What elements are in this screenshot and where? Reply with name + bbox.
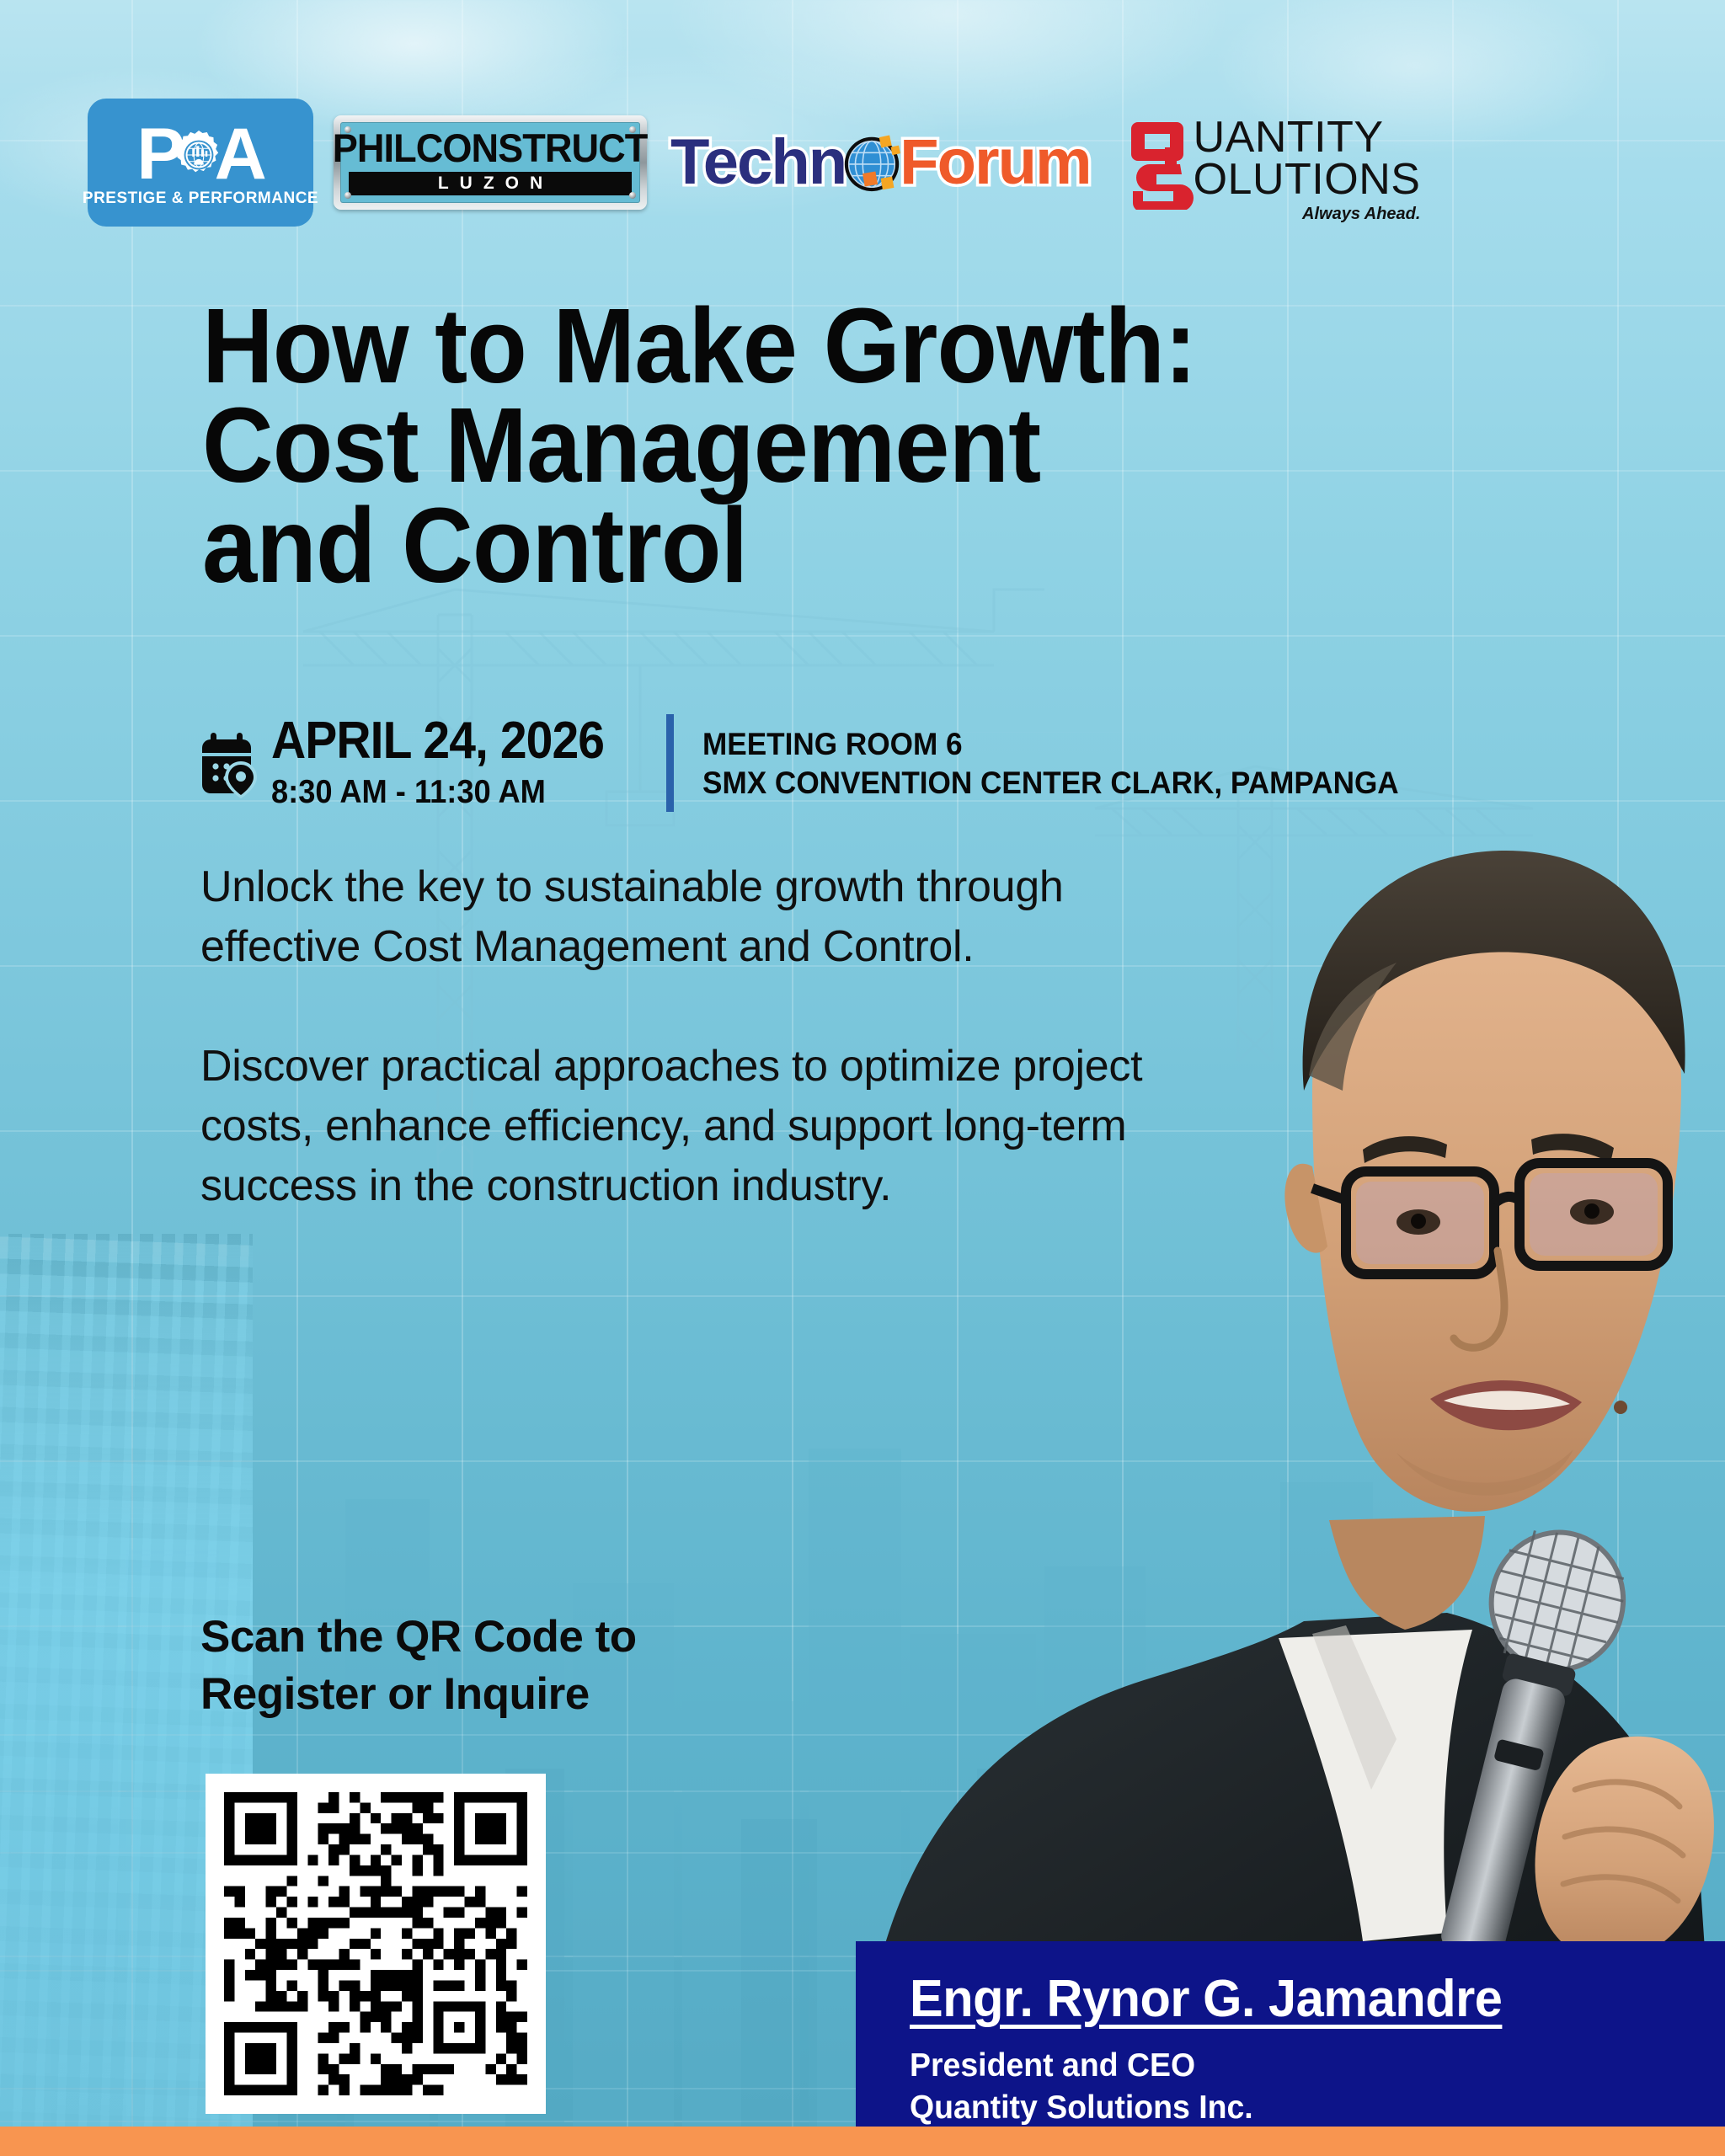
footer-accent-bar: [0, 2127, 1725, 2156]
quantity-solutions-logo: UANTITY OLUTIONS Always Ahead.: [1130, 115, 1421, 210]
globe-icon: [839, 130, 905, 195]
speaker-role: President and CEO: [910, 2045, 1692, 2087]
gear-globe-icon: [173, 129, 225, 181]
qs-line-2: OLUTIONS: [1194, 159, 1421, 201]
philconstruct-plate: PHILCONSTRUCT LUZON: [340, 122, 640, 203]
qs-monogram-icon: [1130, 115, 1202, 210]
divider: [666, 714, 674, 812]
qs-tagline: Always Ahead.: [1302, 205, 1420, 224]
page-title: How to Make Growth: Cost Management and …: [202, 296, 1487, 595]
logo-row: P: [88, 115, 1420, 211]
techno-wordmark-part2: Forum: [900, 131, 1090, 195]
qr-code-icon[interactable]: [206, 1774, 546, 2114]
qr-instruction-line-1: Scan the QR Code to: [200, 1609, 807, 1666]
event-date-block: APRIL 24, 2026 8:30 AM - 11:30 AM: [271, 715, 633, 812]
event-venue: SMX CONVENTION CENTER CLARK, PAMPANGA: [702, 767, 1399, 798]
description-paragraph-2: Discover practical approaches to optimiz…: [200, 1037, 1211, 1215]
speaker-company: Quantity Solutions Inc.: [910, 2087, 1692, 2129]
event-poster: P: [0, 0, 1725, 2156]
event-date: APRIL 24, 2026: [271, 715, 604, 767]
screw-icon: [629, 192, 636, 199]
pca-wordmark: P: [136, 122, 264, 187]
qs-line-1: UANTITY: [1194, 117, 1421, 159]
title-line-3: and Control: [202, 496, 1487, 595]
speaker-info-banner: Engr. Rynor G. Jamandre President and CE…: [856, 1941, 1725, 2127]
event-room: MEETING ROOM 6: [702, 728, 1399, 760]
technoforum-logo: Techn Forum: [670, 119, 1091, 206]
qs-wordmark: UANTITY OLUTIONS Always Ahead.: [1194, 115, 1421, 224]
screw-icon: [344, 192, 351, 199]
pca-logo: P: [88, 99, 313, 227]
calendar-location-icon: [199, 728, 258, 798]
description-paragraph-1: Unlock the key to sustainable growth thr…: [200, 857, 1211, 976]
event-time: 8:30 AM - 11:30 AM: [271, 774, 607, 812]
philconstruct-logo: PHILCONSTRUCT LUZON: [334, 115, 647, 210]
qr-instruction: Scan the QR Code to Register or Inquire: [200, 1609, 807, 1723]
title-line-2: Cost Management: [202, 396, 1487, 495]
title-line-1: How to Make Growth:: [202, 296, 1487, 396]
pca-tagline: PRESTIGE & PERFORMANCE: [83, 189, 318, 208]
description: Unlock the key to sustainable growth thr…: [200, 857, 1211, 1216]
philconstruct-wordmark: PHILCONSTRUCT: [333, 128, 648, 168]
speaker-name: Engr. Rynor G. Jamandre: [910, 1972, 1692, 2026]
qr-instruction-line-2: Register or Inquire: [200, 1666, 807, 1723]
speaker-role-block: President and CEO Quantity Solutions Inc…: [910, 2045, 1692, 2129]
event-venue-block: MEETING ROOM 6 SMX CONVENTION CENTER CLA…: [702, 728, 1435, 798]
philconstruct-region: LUZON: [349, 172, 632, 195]
techno-wordmark-part1: Techn: [670, 131, 846, 195]
event-details: APRIL 24, 2026 8:30 AM - 11:30 AM MEETIN…: [199, 714, 1436, 812]
